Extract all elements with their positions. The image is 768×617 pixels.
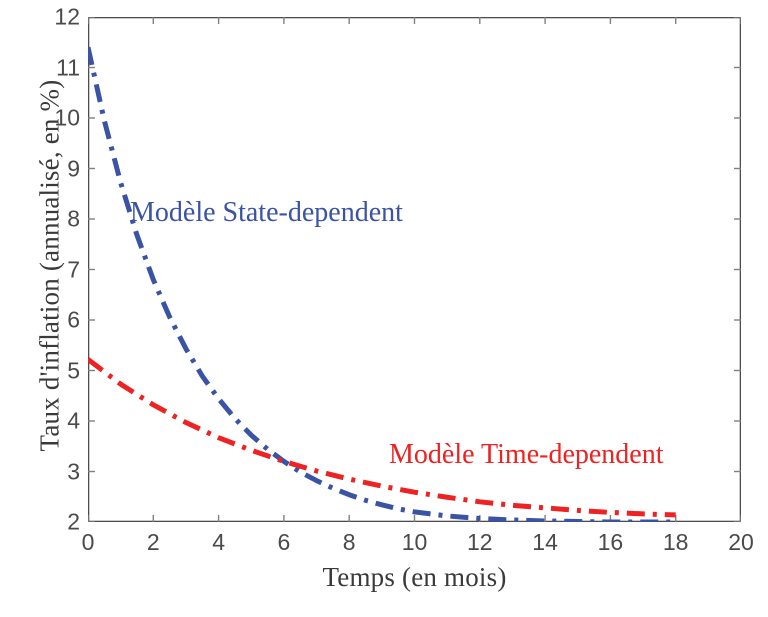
series-annotation-time-dependent: Modèle Time-dependent xyxy=(389,441,664,469)
y-tick-label: 6 xyxy=(40,309,80,332)
x-tick-label: 14 xyxy=(515,531,575,554)
y-tick-label: 10 xyxy=(40,107,80,130)
x-tick-label: 8 xyxy=(319,531,379,554)
x-tick-label: 18 xyxy=(646,531,706,554)
y-tick-label: 5 xyxy=(40,359,80,382)
x-tick-label: 4 xyxy=(189,531,249,554)
y-axis-tick-labels: 23456789101112 xyxy=(32,17,80,522)
x-tick-label: 20 xyxy=(711,531,768,554)
series-annotation-state-dependent: Modèle State-dependent xyxy=(130,199,403,227)
y-tick-label: 3 xyxy=(40,460,80,483)
y-tick-label: 9 xyxy=(40,157,80,180)
x-tick-label: 10 xyxy=(385,531,445,554)
x-tick-label: 2 xyxy=(123,531,183,554)
y-tick-label: 4 xyxy=(40,410,80,433)
x-axis-title: Temps (en mois) xyxy=(88,562,741,593)
inflation-rate-chart: Taux d'inflation (annualisé, en %) 23456… xyxy=(0,0,768,617)
y-tick-label: 11 xyxy=(40,56,80,79)
series-line-2 xyxy=(88,359,676,515)
x-tick-label: 16 xyxy=(580,531,640,554)
y-tick-label: 7 xyxy=(40,258,80,281)
x-tick-label: 0 xyxy=(58,531,118,554)
x-axis-tick-labels: 02468101214161820 xyxy=(88,531,741,561)
x-tick-label: 12 xyxy=(450,531,510,554)
y-tick-label: 8 xyxy=(40,208,80,231)
x-tick-label: 6 xyxy=(254,531,314,554)
y-tick-label: 12 xyxy=(40,6,80,29)
